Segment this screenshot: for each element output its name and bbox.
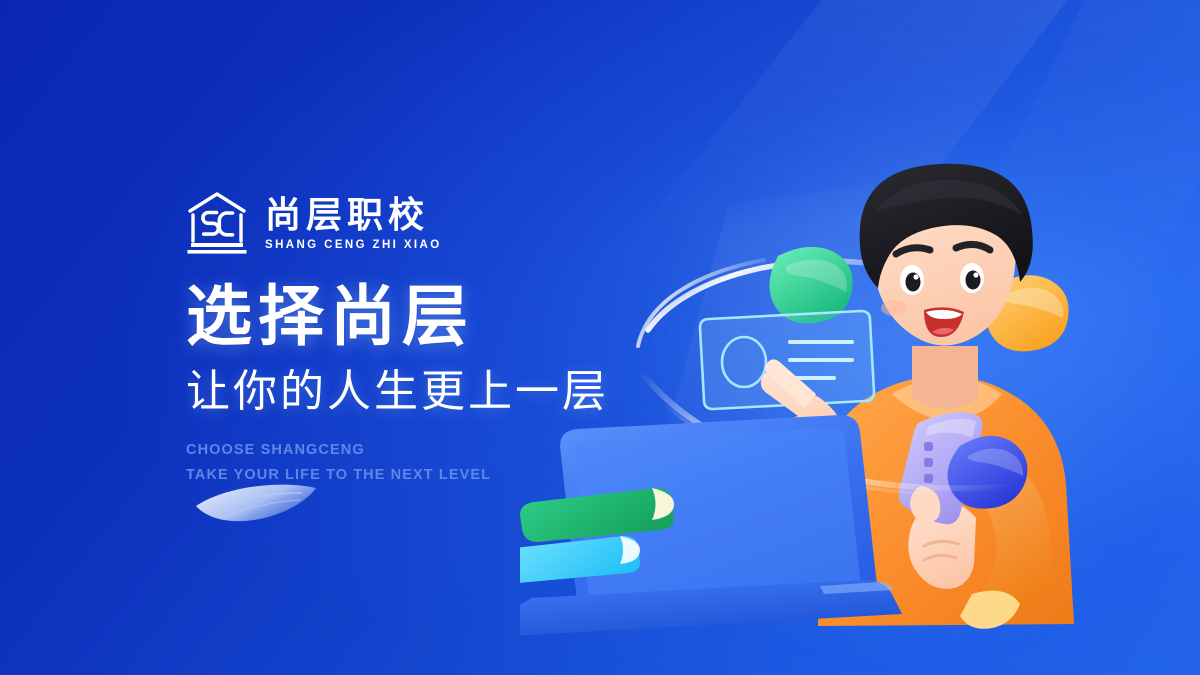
student-with-laptop-illustration <box>520 150 1120 650</box>
paper-sheet-decoration <box>190 478 320 538</box>
brand-name-pinyin: SHANG CENG ZHI XIAO <box>265 240 442 252</box>
brand-text: 尚层职校 SHANG CENG ZHI XIAO <box>265 194 442 252</box>
banner-canvas: 尚层职校 SHANG CENG ZHI XIAO 选择尚层 让你的人生更上一层 … <box>0 0 1200 675</box>
neck <box>912 346 978 409</box>
sc-building-monogram-icon <box>186 191 248 255</box>
brand-name-cn: 尚层职校 <box>265 196 442 234</box>
